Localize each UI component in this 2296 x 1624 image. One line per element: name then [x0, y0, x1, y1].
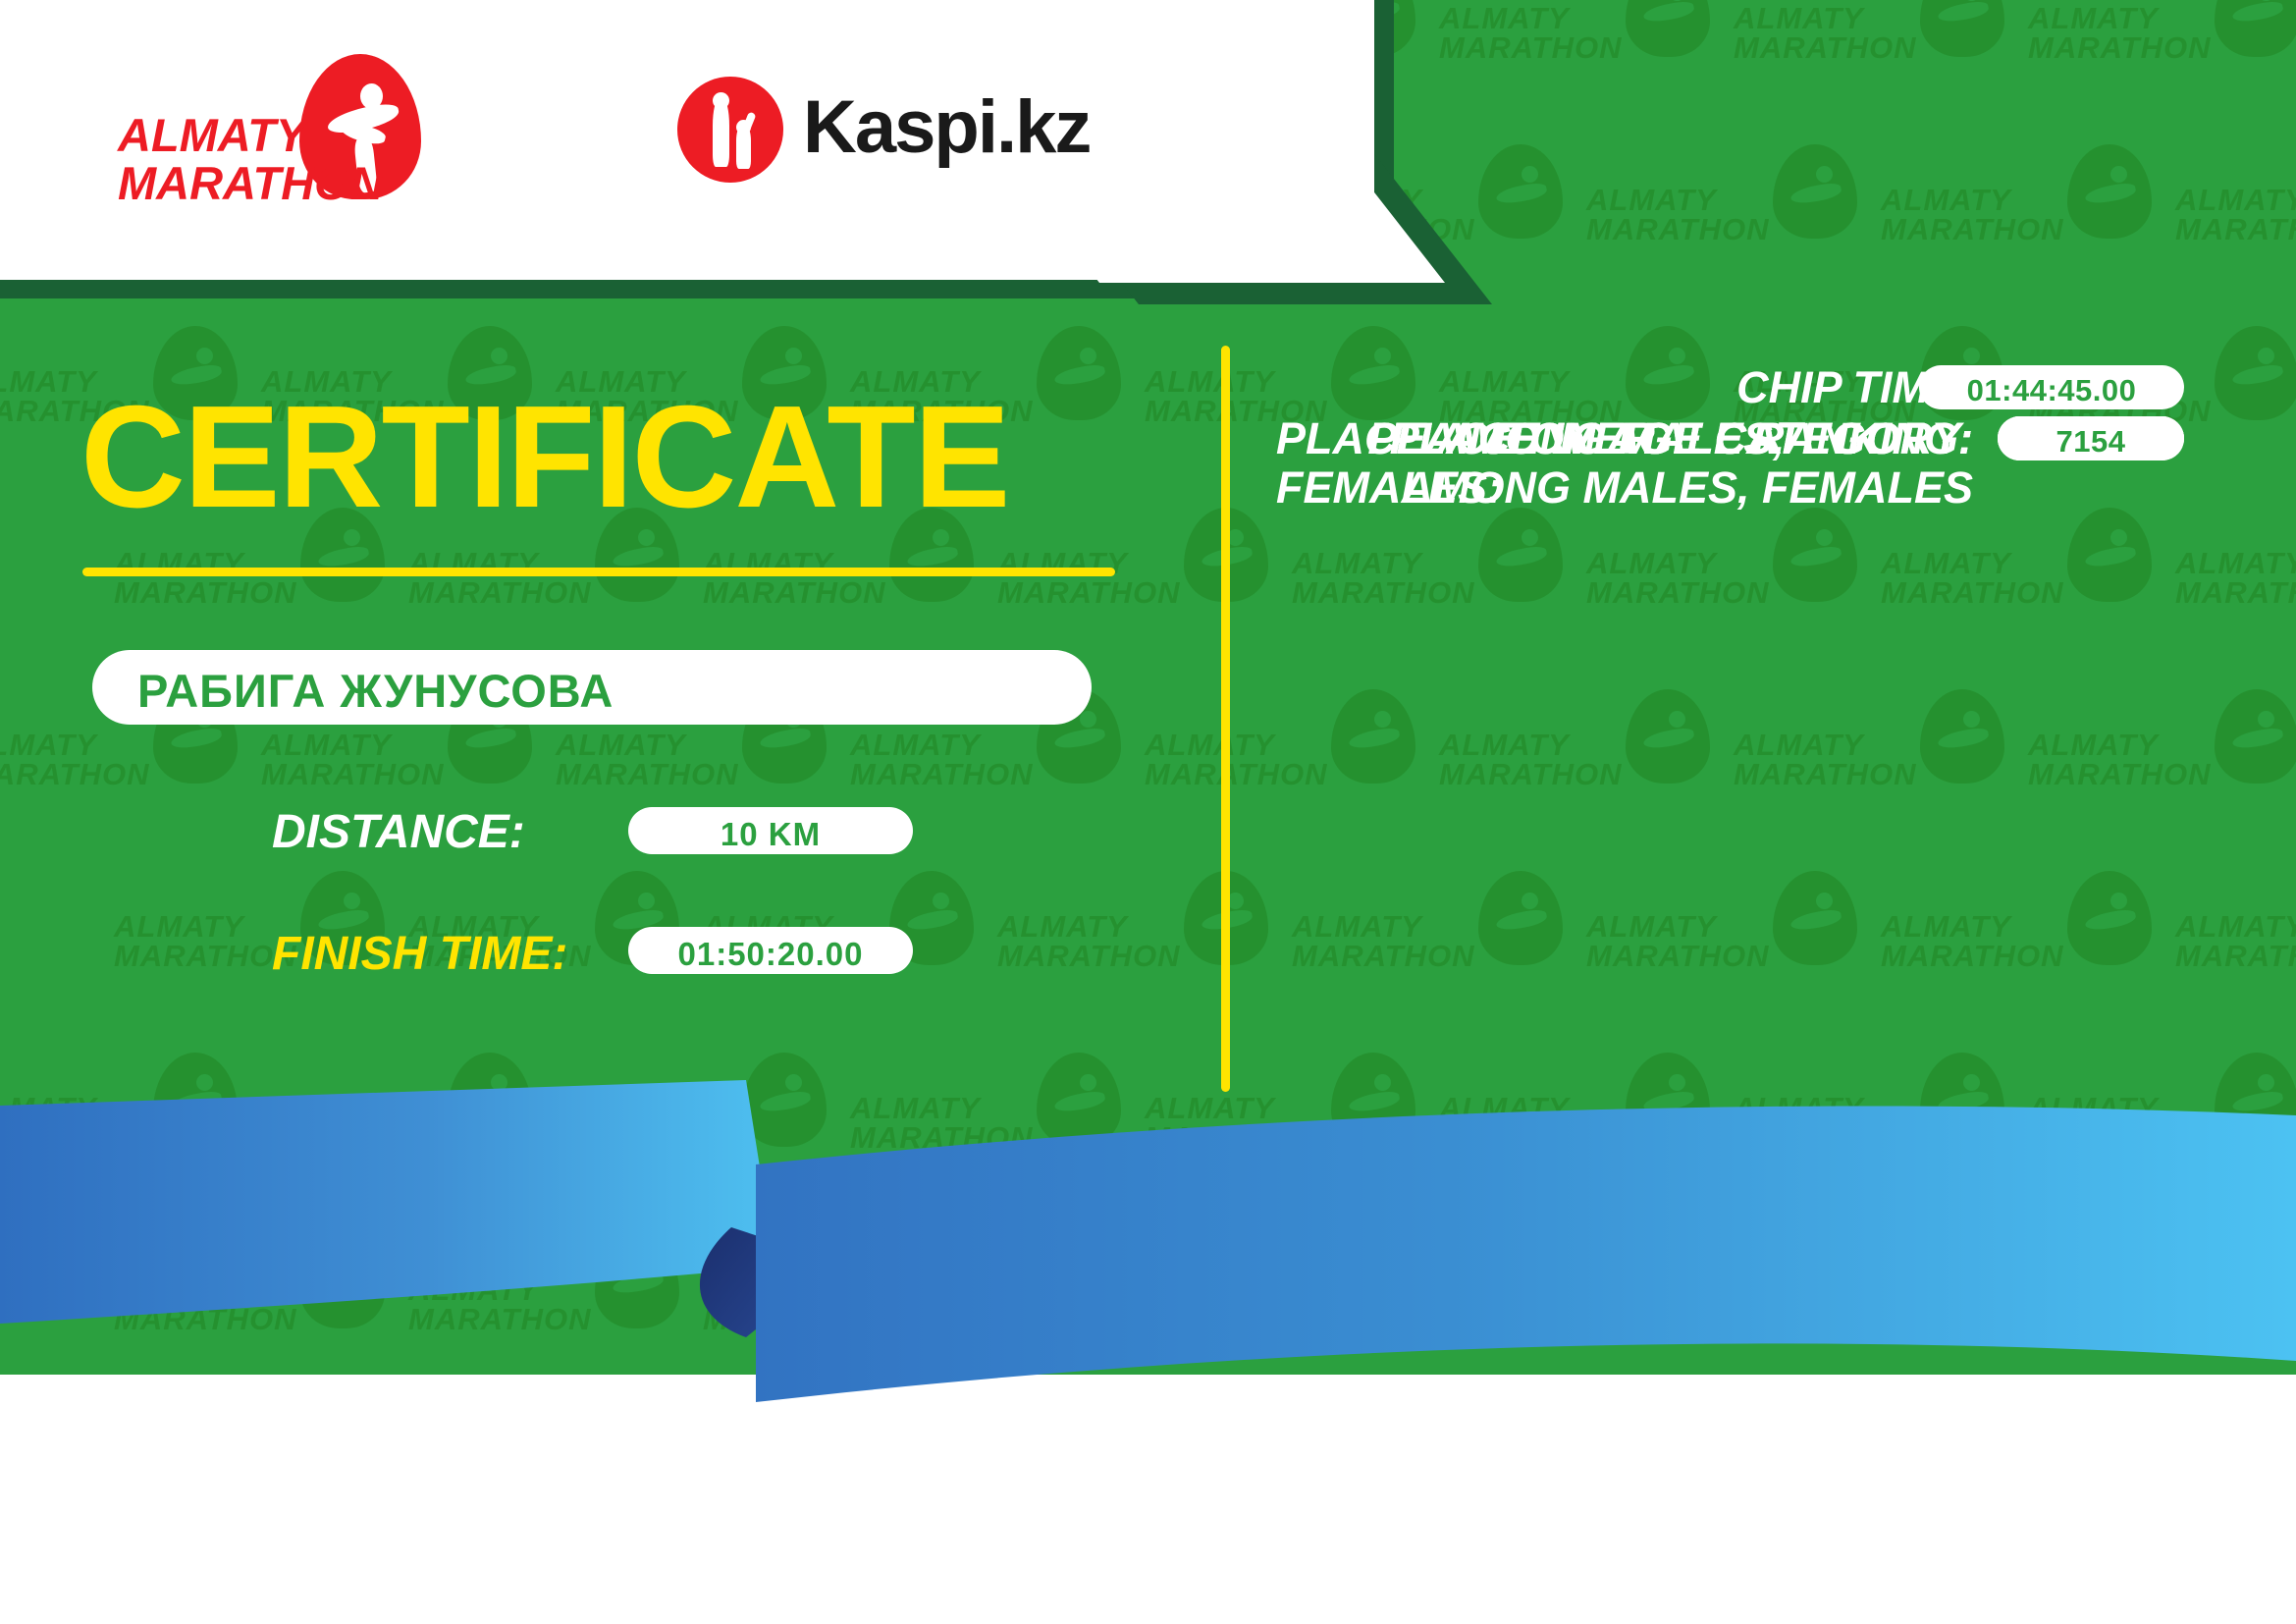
stat-value: 7154	[1998, 424, 2184, 460]
watermark-drop-icon	[1920, 1053, 2004, 1147]
watermark-line-1: ALMATY	[1292, 1275, 1518, 1305]
watermark-tile: ALMATYMARATHON	[1728, 1051, 2022, 1232]
watermark-line-2: MARATHON	[2175, 578, 2296, 608]
watermark-line-1: ALMATY	[1586, 186, 1812, 215]
watermark-line-2: MARATHON	[997, 578, 1223, 608]
watermark-line-1: ALMATY	[1881, 1275, 2107, 1305]
watermark-line-2: MARATHON	[1439, 1123, 1665, 1153]
distance-label: DISTANCE:	[272, 805, 525, 859]
watermark-line-2: MARATHON	[2028, 33, 2254, 63]
watermark-tile: ALMATYMARATHON	[1139, 687, 1433, 869]
watermark-drop-icon	[1773, 871, 1857, 965]
watermark-line-2: MARATHON	[850, 1123, 1076, 1153]
watermark-line-1: ALMATY	[997, 1275, 1223, 1305]
watermark-line-2: MARATHON	[2028, 760, 2254, 789]
watermark-drop-icon	[2067, 1234, 2152, 1328]
watermark-tile: ALMATYMARATHON	[1728, 687, 2022, 869]
watermark-drop-icon	[448, 1053, 532, 1147]
watermark-tile: ALMATYMARATHON	[1580, 869, 1875, 1051]
almaty-marathon-logo: ALMATY MARATHON	[118, 54, 452, 211]
watermark-drop-icon	[2215, 0, 2296, 57]
watermark-tile: ALMATYMARATHON	[255, 1051, 550, 1232]
watermark-text: ALMATYMARATHON	[2028, 4, 2254, 63]
watermark-line-2: MARATHON	[850, 760, 1076, 789]
watermark-tile: ALMATYMARATHON	[108, 1232, 402, 1375]
watermark-tile: ALMATYMARATHON	[991, 1232, 1286, 1375]
watermark-line-2: MARATHON	[2175, 942, 2296, 971]
watermark-line-2: MARATHON	[1881, 578, 2107, 608]
kaspi-circle-icon	[677, 77, 783, 183]
watermark-line-1: ALMATY	[1586, 549, 1812, 578]
watermark-line-1: ALMATY	[261, 731, 487, 760]
watermark-line-1: ALMATY	[2175, 1275, 2296, 1305]
watermark-line-2: MARATHON	[261, 760, 487, 789]
watermark-line-2: MARATHON	[114, 578, 340, 608]
watermark-line-2: MARATHON	[1881, 942, 2107, 971]
watermark-drop-icon	[742, 1053, 827, 1147]
watermark-text: ALMATYMARATHON	[1881, 912, 2107, 971]
watermark-line-1: ALMATY	[1881, 549, 2107, 578]
watermark-drop-icon	[1773, 144, 1857, 239]
watermark-tile: ALMATYMARATHON	[402, 1232, 697, 1375]
watermark-line-1: ALMATY	[1881, 912, 2107, 942]
watermark-text: ALMATYMARATHON	[1586, 1275, 1812, 1334]
watermark-line-1: ALMATY	[556, 1094, 781, 1123]
watermark-tile: ALMATYMARATHON	[1139, 1051, 1433, 1232]
watermark-drop-icon	[1478, 144, 1563, 239]
watermark-line-1: ALMATY	[2028, 4, 2254, 33]
results-stats-list: CHIP TIME:01:44:45.00PLACE IN AGE CATEGO…	[1276, 363, 2189, 414]
watermark-line-2: MARATHON	[556, 760, 781, 789]
watermark-text: ALMATYMARATHON	[1145, 731, 1370, 789]
watermark-line-2: MARATHON	[2028, 1123, 2254, 1153]
watermark-line-2: MARATHON	[408, 1305, 634, 1334]
watermark-text: ALMATYMARATHON	[1586, 186, 1812, 244]
watermark-line-2: MARATHON	[1145, 1123, 1370, 1153]
watermark-text: ALMATYMARATHON	[2175, 549, 2296, 608]
page-title: CERTIFICATE	[80, 385, 1008, 530]
watermark-text: ALMATYMARATHON	[1586, 912, 1812, 971]
watermark-text: ALMATYMARATHON	[1292, 912, 1518, 971]
almaty-marathon-wordmark: ALMATY MARATHON	[118, 111, 384, 208]
watermark-text: ALMATYMARATHON	[2028, 731, 2254, 789]
vertical-divider	[1221, 346, 1230, 1092]
watermark-tile: ALMATYMARATHON	[1433, 1051, 1728, 1232]
watermark-line-1: ALMATY	[850, 1094, 1076, 1123]
watermark-line-1: ALMATY	[1881, 186, 2107, 215]
watermark-line-2: MARATHON	[997, 1305, 1223, 1334]
watermark-drop-icon	[2067, 871, 2152, 965]
watermark-drop-icon	[1478, 1234, 1563, 1328]
watermark-text: ALMATYMARATHON	[1734, 731, 1959, 789]
watermark-tile: ALMATYMARATHON	[1286, 506, 1580, 687]
watermark-text: ALMATYMARATHON	[703, 549, 929, 608]
watermark-line-1: ALMATY	[1734, 4, 1959, 33]
certificate-page: ALMATYMARATHONALMATYMARATHONALMATYMARATH…	[0, 0, 2296, 1624]
watermark-text: ALMATYMARATHON	[261, 1094, 487, 1153]
watermark-line-2: MARATHON	[114, 1305, 340, 1334]
watermark-line-2: MARATHON	[556, 1123, 781, 1153]
watermark-line-2: MARATHON	[0, 1123, 192, 1153]
watermark-line-2: MARATHON	[1439, 760, 1665, 789]
watermark-tile: ALMATYMARATHON	[1728, 0, 2022, 142]
watermark-text: ALMATYMARATHON	[1439, 1094, 1665, 1153]
watermark-line-1: ALMATY	[408, 1275, 634, 1305]
watermark-drop-icon	[153, 1053, 238, 1147]
watermark-line-1: ALMATY	[2175, 186, 2296, 215]
watermark-tile: ALMATYMARATHON	[1875, 142, 2169, 324]
watermark-text: ALMATYMARATHON	[1734, 4, 1959, 63]
watermark-line-1: ALMATY	[1734, 731, 1959, 760]
watermark-text: ALMATYMARATHON	[556, 1094, 781, 1153]
watermark-text: ALMATYMARATHON	[997, 912, 1223, 971]
watermark-text: ALMATYMARATHON	[1881, 186, 2107, 244]
watermark-drop-icon	[300, 1234, 385, 1328]
watermark-line-2: MARATHON	[0, 760, 192, 789]
watermark-line-2: MARATHON	[1734, 760, 1959, 789]
watermark-line-1: ALMATY	[0, 1094, 192, 1123]
watermark-line-1: ALMATY	[261, 1094, 487, 1123]
stat-value: 01:44:45.00	[1919, 373, 2184, 408]
watermark-text: ALMATYMARATHON	[1439, 731, 1665, 789]
kaspi-logo: Kaspi.kz	[677, 77, 1090, 185]
watermark-tile: ALMATYMARATHON	[844, 1051, 1139, 1232]
watermark-tile: ALMATYMARATHON	[1286, 1232, 1580, 1375]
watermark-tile: ALMATYMARATHON	[0, 1051, 255, 1232]
watermark-tile: ALMATYMARATHON	[1580, 142, 1875, 324]
watermark-line-1: ALMATY	[703, 1275, 929, 1305]
watermark-text: ALMATYMARATHON	[997, 1275, 1223, 1334]
watermark-line-2: MARATHON	[1734, 1123, 1959, 1153]
watermark-line-2: MARATHON	[997, 942, 1223, 971]
distance-value: 10 KM	[628, 816, 913, 853]
watermark-line-2: MARATHON	[1586, 578, 1812, 608]
watermark-drop-icon	[2215, 1053, 2296, 1147]
watermark-line-2: MARATHON	[1586, 942, 1812, 971]
watermark-text: ALMATYMARATHON	[0, 731, 192, 789]
watermark-drop-icon	[2067, 508, 2152, 602]
watermark-line-1: ALMATY	[1586, 1275, 1812, 1305]
watermark-text: ALMATYMARATHON	[1586, 549, 1812, 608]
watermark-text: ALMATYMARATHON	[408, 1275, 634, 1334]
watermark-tile: ALMATYMARATHON	[2169, 142, 2296, 324]
stat-label: CHIP TIME:	[1276, 363, 1973, 412]
watermark-drop-icon	[2067, 144, 2152, 239]
watermark-line-2: MARATHON	[1439, 33, 1665, 63]
watermark-tile: ALMATYMARATHON	[1433, 687, 1728, 869]
watermark-line-1: ALMATY	[2175, 912, 2296, 942]
almaty-line: ALMATY	[118, 111, 384, 159]
watermark-line-2: MARATHON	[1734, 33, 1959, 63]
watermark-drop-icon	[1626, 0, 1710, 57]
watermark-text: ALMATYMARATHON	[850, 1094, 1076, 1153]
watermark-line-1: ALMATY	[1734, 1094, 1959, 1123]
watermark-line-2: MARATHON	[408, 578, 634, 608]
watermark-line-2: MARATHON	[703, 1305, 929, 1334]
watermark-tile: ALMATYMARATHON	[1580, 1232, 1875, 1375]
watermark-line-1: ALMATY	[2175, 549, 2296, 578]
finish-time-value: 01:50:20.00	[628, 936, 913, 973]
watermark-drop-icon	[1773, 1234, 1857, 1328]
watermark-tile: ALMATYMARATHON	[1875, 869, 2169, 1051]
watermark-tile: ALMATYMARATHON	[1286, 869, 1580, 1051]
watermark-text: ALMATYMARATHON	[261, 731, 487, 789]
watermark-line-2: MARATHON	[261, 1123, 487, 1153]
watermark-tile: ALMATYMARATHON	[1875, 1232, 2169, 1375]
watermark-tile: ALMATYMARATHON	[2169, 506, 2296, 687]
watermark-drop-icon	[1331, 1053, 1415, 1147]
watermark-text: ALMATYMARATHON	[1881, 1275, 2107, 1334]
watermark-text: ALMATYMARATHON	[0, 1094, 192, 1153]
watermark-drop-icon	[1773, 508, 1857, 602]
watermark-line-1: ALMATY	[1439, 1094, 1665, 1123]
watermark-text: ALMATYMARATHON	[2175, 1275, 2296, 1334]
watermark-text: ALMATYMARATHON	[1292, 1275, 1518, 1334]
watermark-line-1: ALMATY	[1439, 731, 1665, 760]
watermark-line-1: ALMATY	[1292, 912, 1518, 942]
participant-name: РАБИГА ЖУНУСОВА	[137, 664, 614, 718]
watermark-line-1: ALMATY	[1145, 731, 1370, 760]
marathon-line: MARATHON	[118, 159, 384, 207]
watermark-text: ALMATYMARATHON	[1145, 1094, 1370, 1153]
watermark-drop-icon	[2215, 689, 2296, 784]
watermark-drop-icon	[1920, 0, 2004, 57]
watermark-drop-icon	[1920, 689, 2004, 784]
watermark-line-2: MARATHON	[2175, 1305, 2296, 1334]
watermark-line-1: ALMATY	[1145, 1094, 1370, 1123]
watermark-text: ALMATYMARATHON	[114, 1275, 340, 1334]
watermark-text: ALMATYMARATHON	[2175, 912, 2296, 971]
watermark-line-2: MARATHON	[1145, 760, 1370, 789]
watermark-drop-icon	[1184, 1234, 1268, 1328]
watermark-tile: ALMATYMARATHON	[2022, 687, 2296, 869]
sponsor-bar: Sulpak SANOFI Empowering Life ORIFLAME S…	[0, 1414, 2296, 1624]
watermark-tile: ALMATYMARATHON	[550, 1051, 844, 1232]
watermark-line-2: MARATHON	[1292, 1305, 1518, 1334]
watermark-drop-icon	[1478, 508, 1563, 602]
watermark-text: ALMATYMARATHON	[1292, 549, 1518, 608]
kaspi-adult-body-icon	[713, 98, 729, 167]
watermark-drop-icon	[1331, 689, 1415, 784]
watermark-line-2: MARATHON	[1586, 1305, 1812, 1334]
watermark-tile: ALMATYMARATHON	[2022, 0, 2296, 142]
finish-time-label: FINISH TIME:	[272, 927, 567, 981]
watermark-tile: ALMATYMARATHON	[2022, 1051, 2296, 1232]
watermark-line-2: MARATHON	[703, 578, 929, 608]
stat-label: PLACE OVERALL RANKING:	[1276, 414, 1973, 463]
watermark-text: ALMATYMARATHON	[2175, 186, 2296, 244]
watermark-drop-icon	[1037, 1053, 1121, 1147]
watermark-tile: ALMATYMARATHON	[2022, 324, 2296, 506]
kaspi-wordmark: Kaspi.kz	[803, 84, 1090, 170]
title-underline-rule	[82, 568, 1115, 576]
watermark-line-1: ALMATY	[2028, 1094, 2254, 1123]
watermark-line-2: MARATHON	[1586, 215, 1812, 244]
watermark-line-2: MARATHON	[1881, 215, 2107, 244]
watermark-tile: ALMATYMARATHON	[1433, 0, 1728, 142]
watermark-text: ALMATYMARATHON	[1734, 1094, 1959, 1153]
watermark-drop-icon	[1626, 1053, 1710, 1147]
watermark-text: ALMATYMARATHON	[408, 549, 634, 608]
watermark-text: ALMATYMARATHON	[114, 549, 340, 608]
watermark-line-1: ALMATY	[2028, 731, 2254, 760]
watermark-tile: ALMATYMARATHON	[1875, 506, 2169, 687]
watermark-text: ALMATYMARATHON	[997, 549, 1223, 608]
watermark-drop-icon	[595, 1234, 679, 1328]
watermark-line-1: ALMATY	[1292, 549, 1518, 578]
watermark-text: ALMATYMARATHON	[2028, 1094, 2254, 1153]
watermark-line-1: ALMATY	[997, 912, 1223, 942]
watermark-line-1: ALMATY	[114, 1275, 340, 1305]
watermark-tile: ALMATYMARATHON	[2169, 869, 2296, 1051]
watermark-line-1: ALMATY	[1586, 912, 1812, 942]
watermark-line-2: MARATHON	[1292, 578, 1518, 608]
watermark-drop-icon	[1626, 689, 1710, 784]
watermark-text: ALMATYMARATHON	[1439, 4, 1665, 63]
watermark-drop-icon	[889, 1234, 974, 1328]
watermark-tile: ALMATYMARATHON	[2169, 1232, 2296, 1375]
watermark-text: ALMATYMARATHON	[556, 731, 781, 789]
watermark-line-1: ALMATY	[850, 731, 1076, 760]
watermark-drop-icon	[2215, 326, 2296, 420]
watermark-tile: ALMATYMARATHON	[1580, 506, 1875, 687]
watermark-line-2: MARATHON	[1881, 1305, 2107, 1334]
watermark-line-1: ALMATY	[556, 731, 781, 760]
watermark-line-2: MARATHON	[2175, 215, 2296, 244]
watermark-line-2: MARATHON	[1292, 942, 1518, 971]
watermark-line-1: ALMATY	[1439, 4, 1665, 33]
watermark-line-1: ALMATY	[0, 731, 192, 760]
watermark-text: ALMATYMARATHON	[850, 731, 1076, 789]
watermark-drop-icon	[1037, 326, 1121, 420]
watermark-tile: ALMATYMARATHON	[991, 869, 1286, 1051]
watermark-text: ALMATYMARATHON	[1881, 549, 2107, 608]
watermark-drop-icon	[1478, 871, 1563, 965]
watermark-tile: ALMATYMARATHON	[697, 1232, 991, 1375]
watermark-text: ALMATYMARATHON	[703, 1275, 929, 1334]
